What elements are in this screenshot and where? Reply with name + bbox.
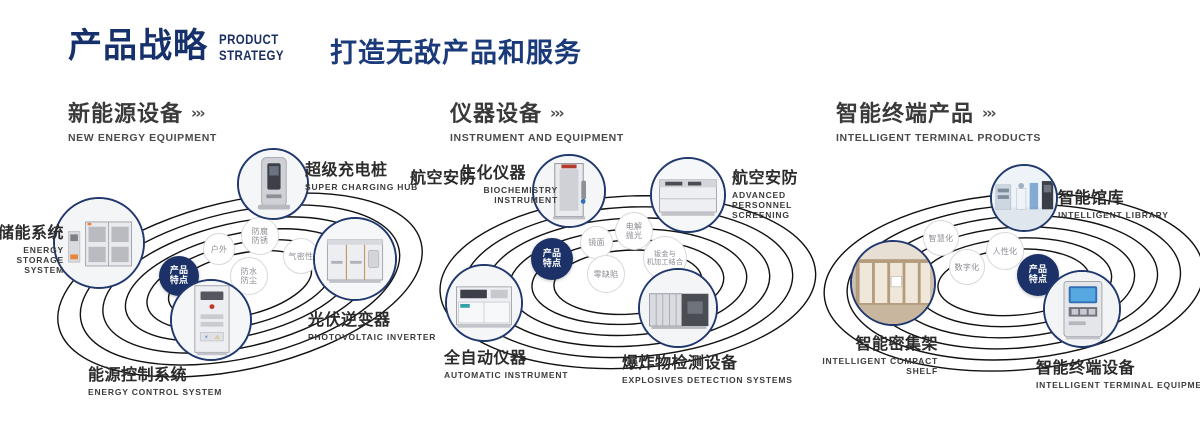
section-heading-new-energy: 新能源设备››› NEW ENERGY EQUIPMENT [68, 96, 217, 144]
chevrons-icon: ››› [191, 104, 204, 122]
product-node-intelligent-terminal-equipment[interactable] [1043, 270, 1121, 348]
feature-bubble-humanized: 人性化 [986, 232, 1024, 270]
page-title-cn: 产品战略 [68, 26, 208, 66]
section-title-en: INSTRUMENT AND EQUIPMENT [450, 132, 624, 144]
feature-bubble-mirror: 镜面 [580, 226, 613, 259]
section-title-cn: 智能终端产品››› [836, 96, 1041, 128]
page-title-en-line1: PRODUCT [219, 31, 284, 47]
caption-automatic-instrument: 全自动仪器 AUTOMATIC INSTRUMENT [444, 344, 568, 380]
feature-bubble-anti-corrosion: 防腐防锈 [241, 217, 279, 255]
caption-explosives-detection: 爆炸物检测设备 EXPLOSIVES DETECTION SYSTEMS [622, 349, 793, 385]
product-node-explosives-detection[interactable] [638, 268, 718, 348]
section-title-en: INTELLIGENT TERMINAL PRODUCTS [836, 132, 1041, 144]
svg-text:⚠: ⚠ [215, 334, 220, 341]
section-heading-instrument: 仪器设备››› INSTRUMENT AND EQUIPMENT [450, 96, 624, 144]
inverter-icon [315, 217, 395, 301]
terminal-kiosk-icon [1045, 270, 1119, 348]
page-header: 产品战略 PRODUCT STRATEGY 打造无敌产品和服务 [0, 0, 1200, 86]
caption-intelligent-compact-shelf: 智能密集架 INTELLIGENT COMPACT SHELF [814, 330, 938, 376]
caption-intelligent-library: 智能馆库 INTELLIGENT LIBRARY [1058, 184, 1169, 220]
caption-energy-storage-system: 储能系统 ENERGY STORAGE SYSTEM [0, 219, 64, 275]
feature-bubble-zero-defect: 零缺陷 [587, 255, 625, 293]
caption-super-charging-hub: 超级充电桩 SUPER CHARGING HUB [305, 156, 418, 192]
feature-core-bubble: 产品特点 [531, 238, 573, 280]
section-heading-intelligent-terminal: 智能终端产品››› INTELLIGENT TERMINAL PRODUCTS [836, 96, 1041, 144]
page-slogan: 打造无敌产品和服务 [330, 31, 582, 70]
intelligent-library-icon [992, 164, 1056, 232]
orbit-group-new-energy: 产品特点 户外 防腐防锈 防水防尘 气密性 储能系统 ENERGY STORAG… [40, 160, 440, 410]
section-title-en: NEW ENERGY EQUIPMENT [68, 132, 217, 144]
chevrons-icon: ››› [982, 104, 995, 122]
charging-hub-icon [239, 148, 307, 220]
page-title-en-line2: STRATEGY [219, 47, 284, 63]
product-node-intelligent-compact-shelf[interactable] [850, 240, 936, 326]
automatic-instrument-icon [447, 264, 521, 342]
caption-energy-control-system: 能源控制系统 ENERGY CONTROL SYSTEM [88, 361, 222, 397]
product-node-advanced-personnel-screening[interactable] [650, 157, 726, 233]
feature-bubble-digital: 数字化 [949, 249, 985, 285]
screening-machine-icon [652, 157, 724, 233]
orbit-group-instrument: 产品特点 镜面 电解抛光 零缺陷 钣金与机加工结合 航空安防 生化仪器 BIOC… [432, 160, 832, 410]
page-title-en: PRODUCT STRATEGY [219, 31, 284, 63]
svg-text:⚡: ⚡ [204, 334, 208, 341]
compact-shelf-icon [852, 240, 934, 326]
product-node-energy-storage-system[interactable] [53, 197, 145, 289]
product-node-energy-control-system[interactable]: ⚡ ⚠ [170, 279, 252, 361]
product-node-automatic-instrument[interactable] [445, 264, 523, 342]
product-node-intelligent-library[interactable] [990, 164, 1058, 232]
feature-bubble-smart: 智慧化 [923, 220, 959, 256]
product-node-photovoltaic-inverter[interactable] [313, 217, 397, 301]
caption-intelligent-terminal-equipment: 智能终端设备 INTELLIGENT TERMINAL EQUIPMENT [1036, 354, 1200, 390]
product-node-super-charging-hub[interactable] [237, 148, 309, 220]
explosives-detection-icon [640, 268, 716, 348]
section-title-cn: 仪器设备››› [450, 96, 624, 128]
control-cabinet-icon: ⚡ ⚠ [172, 279, 250, 361]
energy-storage-icon [55, 197, 143, 289]
caption-biochemistry-instrument: 生化仪器 BIOCHEMISTRY INSTRUMENT [460, 159, 558, 205]
orbit-group-intelligent-terminal: 智慧化 数字化 人性化 产品特点 智能馆库 INTELLIGENT LIBRAR… [818, 160, 1200, 410]
section-title-cn: 新能源设备››› [68, 96, 217, 128]
chevrons-icon: ››› [550, 104, 563, 122]
feature-bubble-outdoor: 户外 [203, 233, 235, 265]
caption-photovoltaic-inverter: 光伏逆变器 PHOTOVOLTAIC INVERTER [308, 306, 436, 342]
